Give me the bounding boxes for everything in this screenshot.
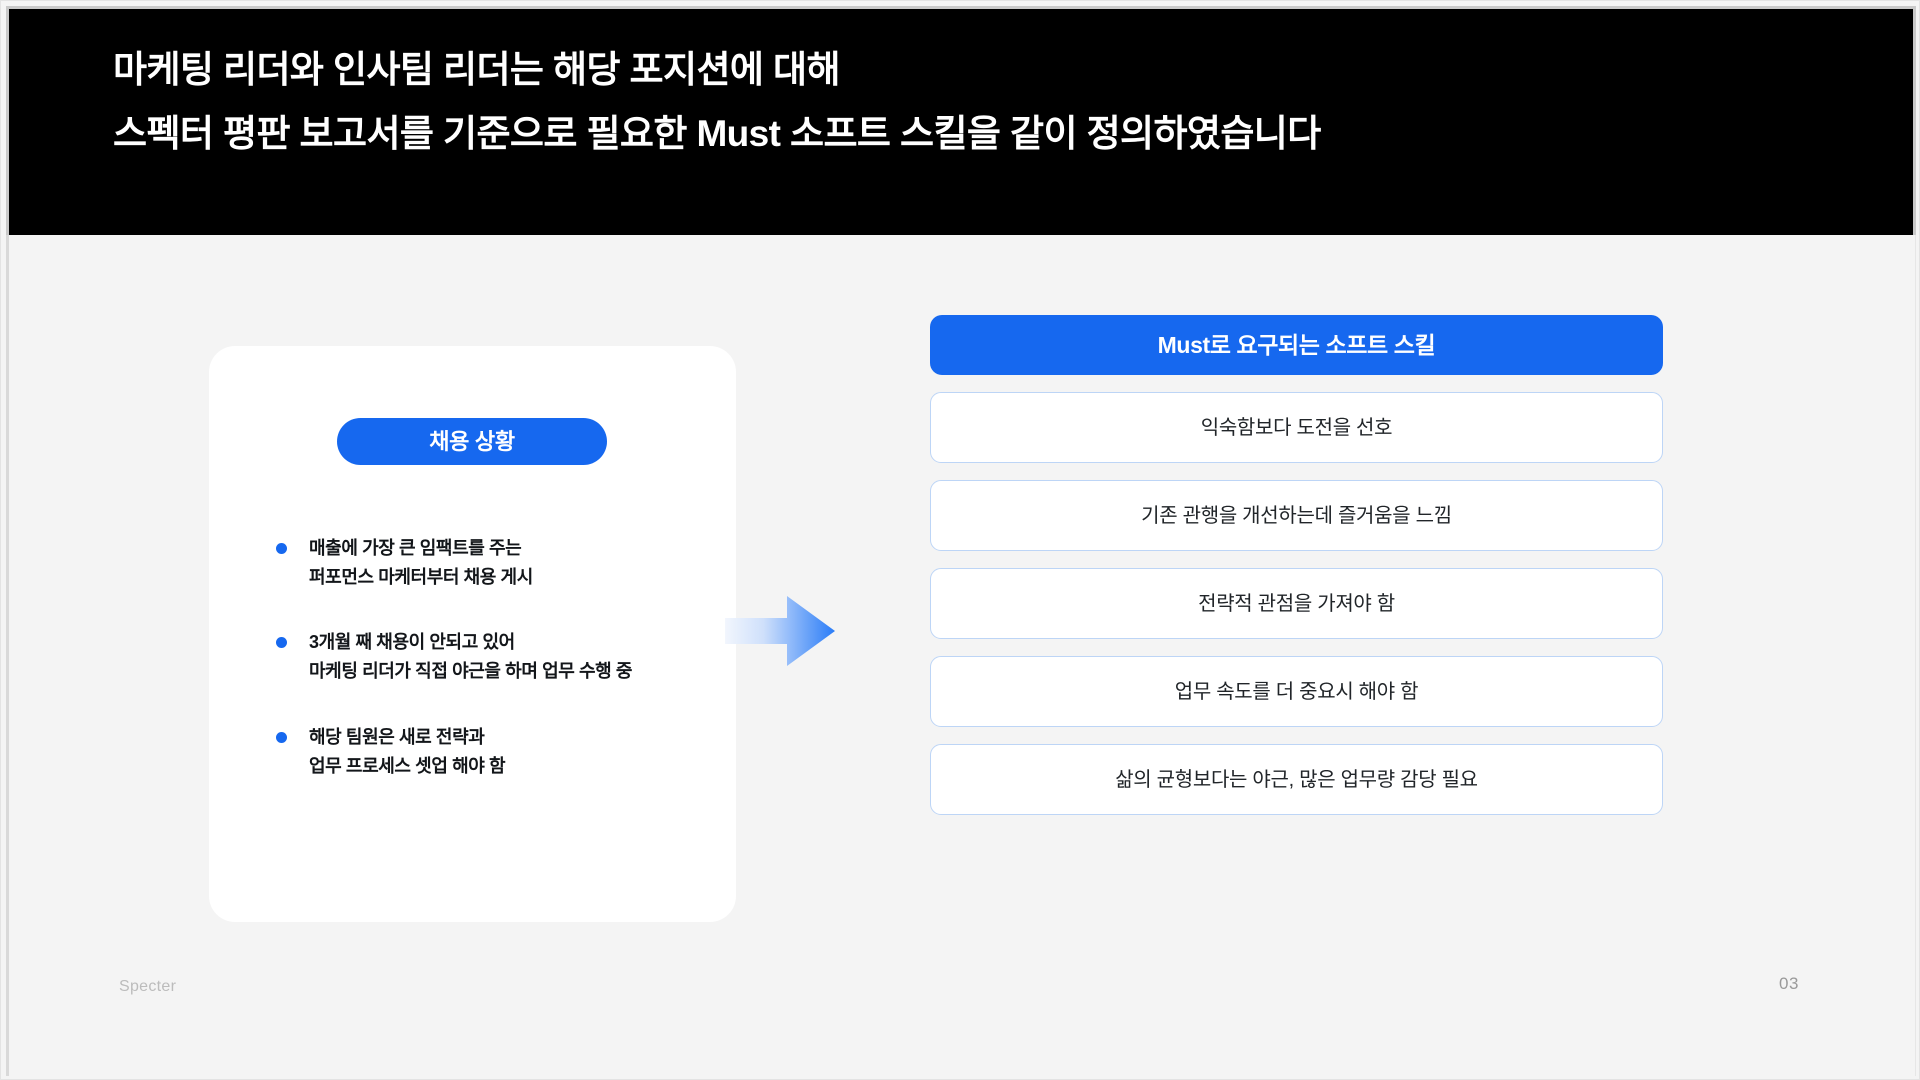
slide-header: 마케팅 리더와 인사팀 리더는 해당 포지션에 대해 스펙터 평판 보고서를 기…	[6, 6, 1916, 235]
skill-card[interactable]: 삶의 균형보다는 야근, 많은 업무량 감당 필요	[930, 744, 1663, 815]
skill-card-label: 삶의 균형보다는 야근, 많은 업무량 감당 필요	[1115, 770, 1478, 790]
page-title: 마케팅 리더와 인사팀 리더는 해당 포지션에 대해 스펙터 평판 보고서를 기…	[113, 51, 1321, 152]
skill-card[interactable]: 전략적 관점을 가져야 함	[930, 568, 1663, 639]
arrow-right-icon	[725, 594, 835, 668]
title-line-2: 스펙터 평판 보고서를 기준으로 필요한 Must 소프트 스킬을 같이 정의하…	[113, 115, 1321, 152]
bullet-line-secondary: 퍼포먼스 마케터부터 채용 게시	[309, 563, 703, 592]
skill-card[interactable]: 업무 속도를 더 중요시 해야 함	[930, 656, 1663, 727]
hiring-situation-pill-label: 채용 상황	[429, 431, 515, 453]
title-line-1: 마케팅 리더와 인사팀 리더는 해당 포지션에 대해	[113, 51, 1321, 88]
bullet-dot-icon	[276, 732, 287, 743]
bullet-line-secondary: 마케팅 리더가 직접 야근을 하며 업무 수행 중	[309, 657, 703, 686]
hiring-situation-card: 채용 상황 매출에 가장 큰 임팩트를 주는 퍼포먼스 마케터부터 채용 게시 …	[209, 346, 736, 922]
hiring-situation-pill: 채용 상황	[337, 418, 607, 465]
slide-body: 채용 상황 매출에 가장 큰 임팩트를 주는 퍼포먼스 마케터부터 채용 게시 …	[6, 235, 1916, 1076]
skill-card[interactable]: 익숙함보다 도전을 선호	[930, 392, 1663, 463]
must-soft-skills-header-label: Must로 요구되는 소프트 스킬	[1158, 334, 1436, 357]
bullet-dot-icon	[276, 637, 287, 648]
skill-card-label: 기존 관행을 개선하는데 즐거움을 느낌	[1141, 506, 1452, 526]
list-item: 매출에 가장 큰 임팩트를 주는 퍼포먼스 마케터부터 채용 게시	[273, 534, 703, 592]
bullet-line-primary: 매출에 가장 큰 임팩트를 주는	[309, 534, 703, 563]
skill-card-label: 전략적 관점을 가져야 함	[1198, 594, 1395, 614]
must-soft-skills-header: Must로 요구되는 소프트 스킬	[930, 315, 1663, 375]
bullet-line-primary: 해당 팀원은 새로 전략과	[309, 723, 703, 752]
list-item: 3개월 째 채용이 안되고 있어 마케팅 리더가 직접 야근을 하며 업무 수행…	[273, 628, 703, 686]
footer-brand: Specter	[119, 979, 176, 995]
bullet-line-secondary: 업무 프로세스 셋업 해야 함	[309, 752, 703, 781]
hiring-situation-bullet-list: 매출에 가장 큰 임팩트를 주는 퍼포먼스 마케터부터 채용 게시 3개월 째 …	[273, 534, 703, 781]
must-soft-skills-panel: Must로 요구되는 소프트 스킬 익숙함보다 도전을 선호 기존 관행을 개선…	[930, 315, 1663, 815]
bullet-dot-icon	[276, 543, 287, 554]
skill-card-label: 익숙함보다 도전을 선호	[1201, 418, 1393, 438]
slide-root: 마케팅 리더와 인사팀 리더는 해당 포지션에 대해 스펙터 평판 보고서를 기…	[0, 0, 1920, 1080]
list-item: 해당 팀원은 새로 전략과 업무 프로세스 셋업 해야 함	[273, 723, 703, 781]
bullet-line-primary: 3개월 째 채용이 안되고 있어	[309, 628, 703, 657]
page-number: 03	[1779, 975, 1799, 992]
skill-card-label: 업무 속도를 더 중요시 해야 함	[1175, 682, 1418, 702]
skill-card[interactable]: 기존 관행을 개선하는데 즐거움을 느낌	[930, 480, 1663, 551]
